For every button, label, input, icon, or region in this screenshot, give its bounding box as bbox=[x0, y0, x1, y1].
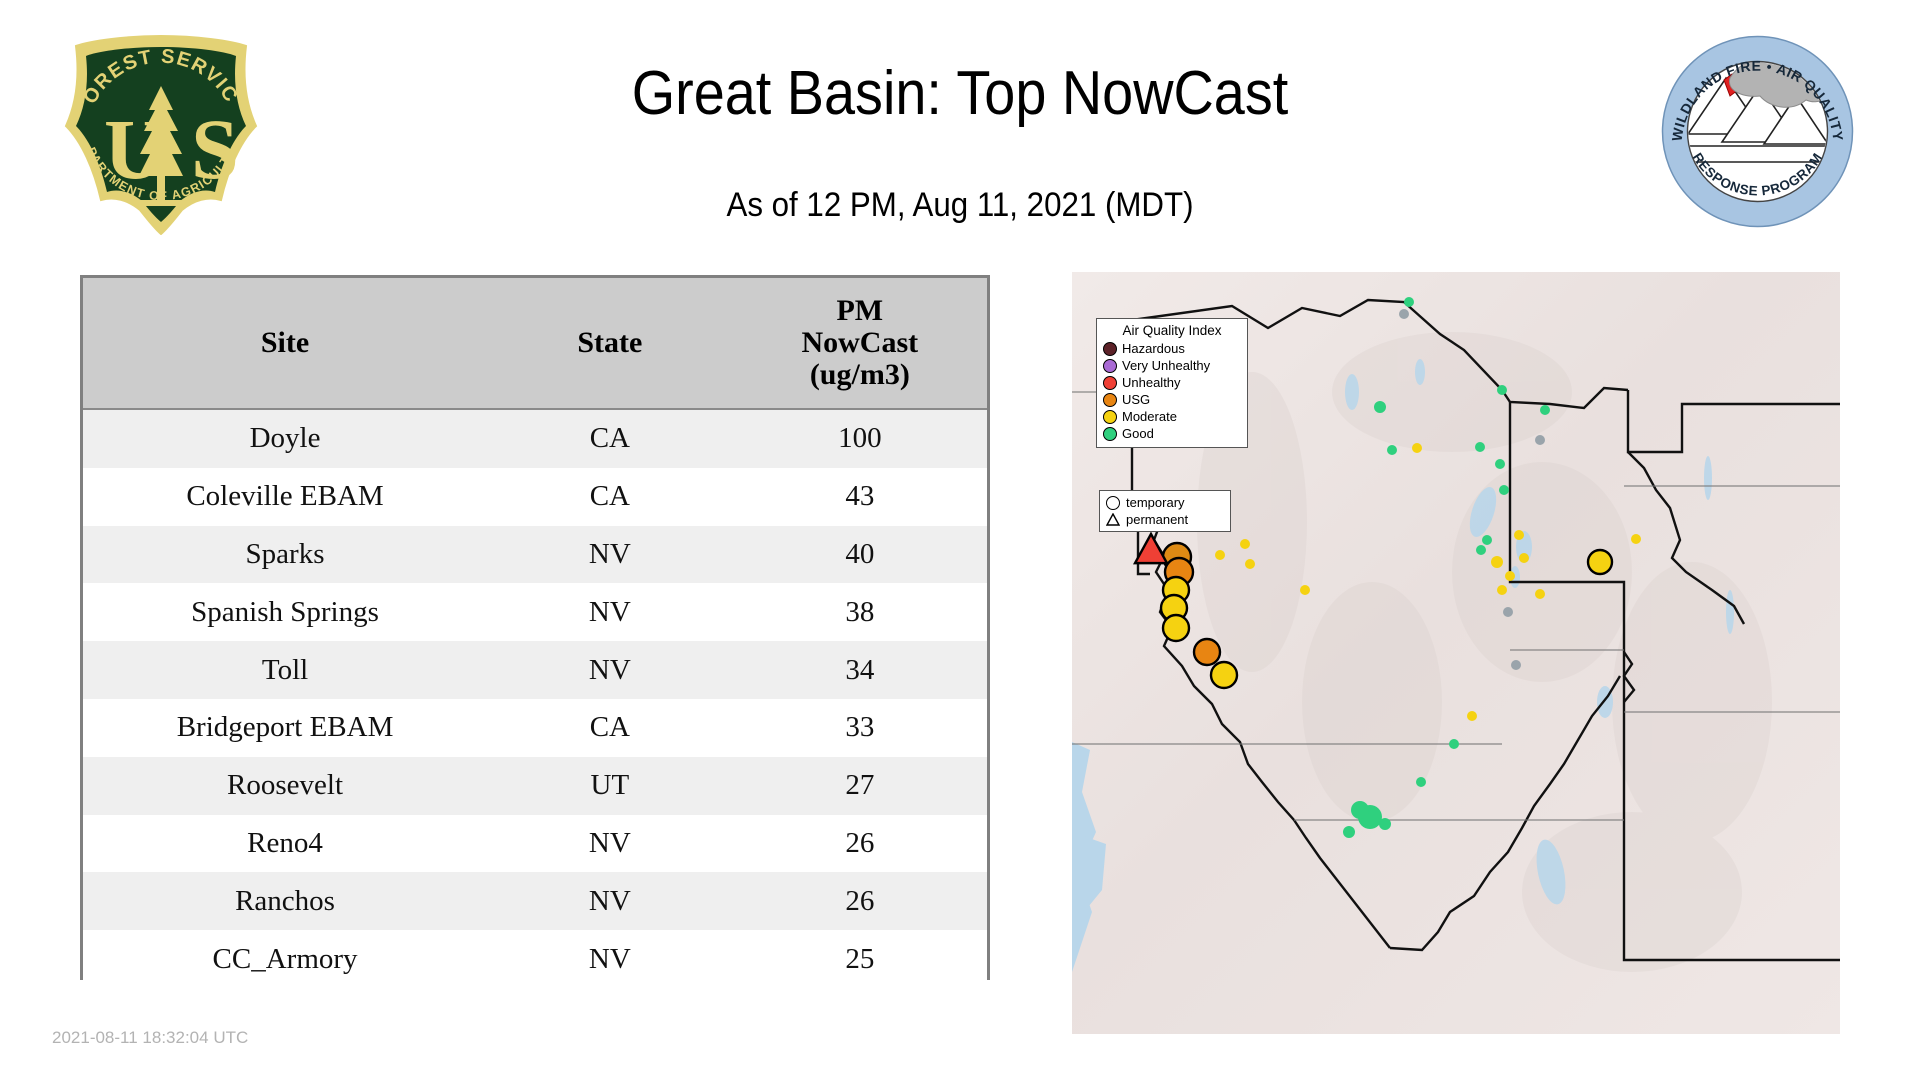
cell-state: NV bbox=[487, 641, 733, 699]
monitor-marker[interactable] bbox=[1412, 443, 1422, 453]
legend-item-temporary: temporary bbox=[1106, 494, 1224, 511]
cell-state: NV bbox=[487, 583, 733, 641]
pm-header-line-3: (ug/m3) bbox=[810, 358, 910, 391]
monitor-marker[interactable] bbox=[1404, 297, 1414, 307]
monitor-marker[interactable] bbox=[1245, 559, 1255, 569]
monitor-marker[interactable] bbox=[1514, 530, 1524, 540]
cell-site: Spanish Springs bbox=[83, 583, 487, 641]
cell-state: CA bbox=[487, 409, 733, 468]
circle-icon bbox=[1106, 496, 1120, 510]
legend-item-permanent: permanent bbox=[1106, 511, 1224, 528]
legend-title: Air Quality Index bbox=[1103, 323, 1241, 338]
legend-label: Unhealthy bbox=[1122, 375, 1181, 390]
legend-monitor-type: temporary permanent bbox=[1099, 490, 1231, 532]
cell-pm: 26 bbox=[733, 872, 987, 930]
triangle-icon bbox=[1106, 513, 1120, 526]
air-quality-map[interactable]: Air Quality Index Hazardous Very Unhealt… bbox=[1072, 272, 1840, 1034]
cell-site: Ranchos bbox=[83, 872, 487, 930]
legend-item-good: Good bbox=[1103, 425, 1241, 442]
monitor-marker[interactable] bbox=[1499, 485, 1509, 495]
legend-label: Hazardous bbox=[1122, 341, 1185, 356]
nowcast-table-container: Site State PM NowCast (ug/m3) Doyle CA 1… bbox=[80, 275, 990, 980]
legend-label: Very Unhealthy bbox=[1122, 358, 1210, 373]
wfaqrp-logo: WILDLAND FIRE • AIR QUALITY RESPONSE PRO… bbox=[1660, 34, 1855, 229]
legend-item-unhealthy: Unhealthy bbox=[1103, 374, 1241, 391]
monitor-marker[interactable] bbox=[1351, 801, 1369, 819]
table-row: Ranchos NV 26 bbox=[83, 872, 987, 930]
cell-state: NV bbox=[487, 930, 733, 988]
monitor-marker[interactable] bbox=[1497, 585, 1507, 595]
monitor-marker[interactable] bbox=[1476, 545, 1486, 555]
cell-pm: 100 bbox=[733, 409, 987, 468]
legend-label: permanent bbox=[1126, 512, 1188, 527]
monitor-marker[interactable] bbox=[1211, 662, 1237, 688]
cell-site: CC_Armory bbox=[83, 930, 487, 988]
monitor-marker[interactable] bbox=[1505, 571, 1515, 581]
legend-label: Good bbox=[1122, 426, 1154, 441]
cell-state: NV bbox=[487, 815, 733, 873]
monitor-marker[interactable] bbox=[1497, 385, 1507, 395]
cell-site: Doyle bbox=[83, 409, 487, 468]
table-row: Roosevelt UT 27 bbox=[83, 757, 987, 815]
aqi-dot-hazardous bbox=[1103, 342, 1117, 356]
monitor-marker[interactable] bbox=[1240, 539, 1250, 549]
cell-pm: 27 bbox=[733, 757, 987, 815]
monitor-marker[interactable] bbox=[1343, 826, 1355, 838]
cell-pm: 43 bbox=[733, 468, 987, 526]
legend-label: USG bbox=[1122, 392, 1150, 407]
legend-item-hazardous: Hazardous bbox=[1103, 340, 1241, 357]
monitor-marker[interactable] bbox=[1399, 309, 1409, 319]
table-row: Reno4 NV 26 bbox=[83, 815, 987, 873]
cell-pm: 40 bbox=[733, 526, 987, 584]
table-row: Sparks NV 40 bbox=[83, 526, 987, 584]
monitor-marker[interactable] bbox=[1535, 589, 1545, 599]
aqi-dot-usg bbox=[1103, 393, 1117, 407]
monitor-marker[interactable] bbox=[1449, 739, 1459, 749]
cell-pm: 38 bbox=[733, 583, 987, 641]
cell-state: NV bbox=[487, 526, 733, 584]
aqi-dot-good bbox=[1103, 427, 1117, 441]
table-row: Doyle CA 100 bbox=[83, 409, 987, 468]
monitor-marker[interactable] bbox=[1416, 777, 1426, 787]
legend-label: temporary bbox=[1126, 495, 1185, 510]
generated-timestamp: 2021-08-11 18:32:04 UTC bbox=[52, 1028, 248, 1048]
table-row: Toll NV 34 bbox=[83, 641, 987, 699]
cell-site: Coleville EBAM bbox=[83, 468, 487, 526]
pm-header-line-1: PM bbox=[836, 294, 883, 327]
monitor-marker[interactable] bbox=[1194, 639, 1220, 665]
aqi-dot-very-unhealthy bbox=[1103, 359, 1117, 373]
monitor-marker[interactable] bbox=[1540, 405, 1550, 415]
cell-state: CA bbox=[487, 468, 733, 526]
monitor-marker[interactable] bbox=[1482, 535, 1492, 545]
cell-pm: 26 bbox=[733, 815, 987, 873]
cell-site: Roosevelt bbox=[83, 757, 487, 815]
monitor-marker[interactable] bbox=[1503, 607, 1513, 617]
cell-site: Reno4 bbox=[83, 815, 487, 873]
cell-state: CA bbox=[487, 699, 733, 757]
table-header: Site State PM NowCast (ug/m3) bbox=[83, 278, 987, 409]
cell-pm: 33 bbox=[733, 699, 987, 757]
monitor-marker[interactable] bbox=[1631, 534, 1641, 544]
page-title: Great Basin: Top NowCast bbox=[96, 58, 1824, 129]
slide-root: FOREST SERVICE U S DEPARTMENT OF AGRICUL… bbox=[0, 0, 1920, 1080]
cell-state: UT bbox=[487, 757, 733, 815]
cell-pm: 25 bbox=[733, 930, 987, 988]
monitor-marker[interactable] bbox=[1491, 556, 1503, 568]
cell-site: Sparks bbox=[83, 526, 487, 584]
legend-item-usg: USG bbox=[1103, 391, 1241, 408]
legend-air-quality-index: Air Quality Index Hazardous Very Unhealt… bbox=[1096, 318, 1248, 448]
table-row: Coleville EBAM CA 43 bbox=[83, 468, 987, 526]
column-header-site: Site bbox=[83, 278, 487, 409]
table-body: Doyle CA 100 Coleville EBAM CA 43 Sparks… bbox=[83, 409, 987, 988]
legend-label: Moderate bbox=[1122, 409, 1177, 424]
aqi-dot-moderate bbox=[1103, 410, 1117, 424]
monitor-marker[interactable] bbox=[1387, 445, 1397, 455]
monitor-marker[interactable] bbox=[1300, 585, 1310, 595]
cell-state: NV bbox=[487, 872, 733, 930]
table-row: Spanish Springs NV 38 bbox=[83, 583, 987, 641]
monitor-marker[interactable] bbox=[1535, 435, 1545, 445]
monitor-marker[interactable] bbox=[1467, 711, 1477, 721]
aqi-dot-unhealthy bbox=[1103, 376, 1117, 390]
page-subtitle: As of 12 PM, Aug 11, 2021 (MDT) bbox=[77, 186, 1843, 225]
monitor-marker[interactable] bbox=[1588, 550, 1612, 574]
column-header-pm-nowcast: PM NowCast (ug/m3) bbox=[733, 278, 987, 409]
monitor-marker[interactable] bbox=[1511, 660, 1521, 670]
monitor-marker[interactable] bbox=[1379, 818, 1391, 830]
monitor-marker[interactable] bbox=[1215, 550, 1225, 560]
nowcast-table: Site State PM NowCast (ug/m3) Doyle CA 1… bbox=[83, 278, 987, 988]
pm-header-line-2: NowCast bbox=[801, 326, 918, 359]
monitor-marker[interactable] bbox=[1163, 615, 1189, 641]
monitor-marker[interactable] bbox=[1495, 459, 1505, 469]
cell-site: Bridgeport EBAM bbox=[83, 699, 487, 757]
cell-site: Toll bbox=[83, 641, 487, 699]
monitor-marker[interactable] bbox=[1374, 401, 1386, 413]
monitor-marker[interactable] bbox=[1475, 442, 1485, 452]
table-row: CC_Armory NV 25 bbox=[83, 930, 987, 988]
legend-item-moderate: Moderate bbox=[1103, 408, 1241, 425]
legend-item-very-unhealthy: Very Unhealthy bbox=[1103, 357, 1241, 374]
table-row: Bridgeport EBAM CA 33 bbox=[83, 699, 987, 757]
column-header-state: State bbox=[487, 278, 733, 409]
monitor-marker[interactable] bbox=[1519, 553, 1529, 563]
cell-pm: 34 bbox=[733, 641, 987, 699]
